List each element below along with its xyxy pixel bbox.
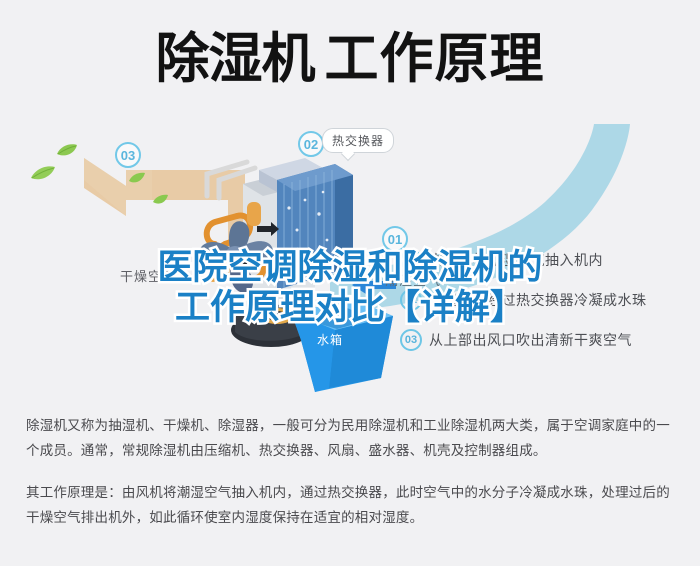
overlay-headline-line1: 医院空调除湿和除湿机的	[0, 248, 700, 288]
step-badge-03: 03	[115, 142, 141, 168]
step-badge-02: 02	[298, 131, 324, 157]
header: 除湿机 工作原理	[0, 0, 700, 118]
body-paragraph-2: 其工作原理是：由风机将潮湿空气抽入机内，通过热交换器，此时空气中的水分子冷凝成水…	[26, 480, 676, 530]
legend-text-03: 从上部出风口吹出清新干爽空气	[429, 330, 632, 350]
body-paragraph-1: 除湿机又称为抽湿机、干燥机、除湿器，一般可分为民用除湿机和工业除湿机两大类，属于…	[26, 413, 676, 463]
leaf-icon	[152, 194, 169, 212]
water-tank-label: 水箱	[317, 331, 343, 348]
overlay-headline-line2: 工作原理对比【详解】	[0, 288, 700, 328]
leaf-icon	[56, 143, 78, 164]
page-title-part-a: 除湿机	[156, 32, 315, 86]
leaf-icon	[128, 172, 146, 191]
legend-badge-03: 03	[400, 329, 422, 351]
page-title-part-b: 工作原理	[325, 32, 545, 86]
overlay-headline: 医院空调除湿和除湿机的 工作原理对比【详解】	[0, 248, 700, 328]
page-title: 除湿机 工作原理	[156, 32, 545, 86]
body-copy: 除湿机又称为抽湿机、干燥机、除湿器，一般可分为民用除湿机和工业除湿机两大类，属于…	[26, 413, 676, 530]
heat-exchanger-callout: 热交换器	[322, 128, 394, 153]
leaf-icon	[30, 165, 56, 188]
